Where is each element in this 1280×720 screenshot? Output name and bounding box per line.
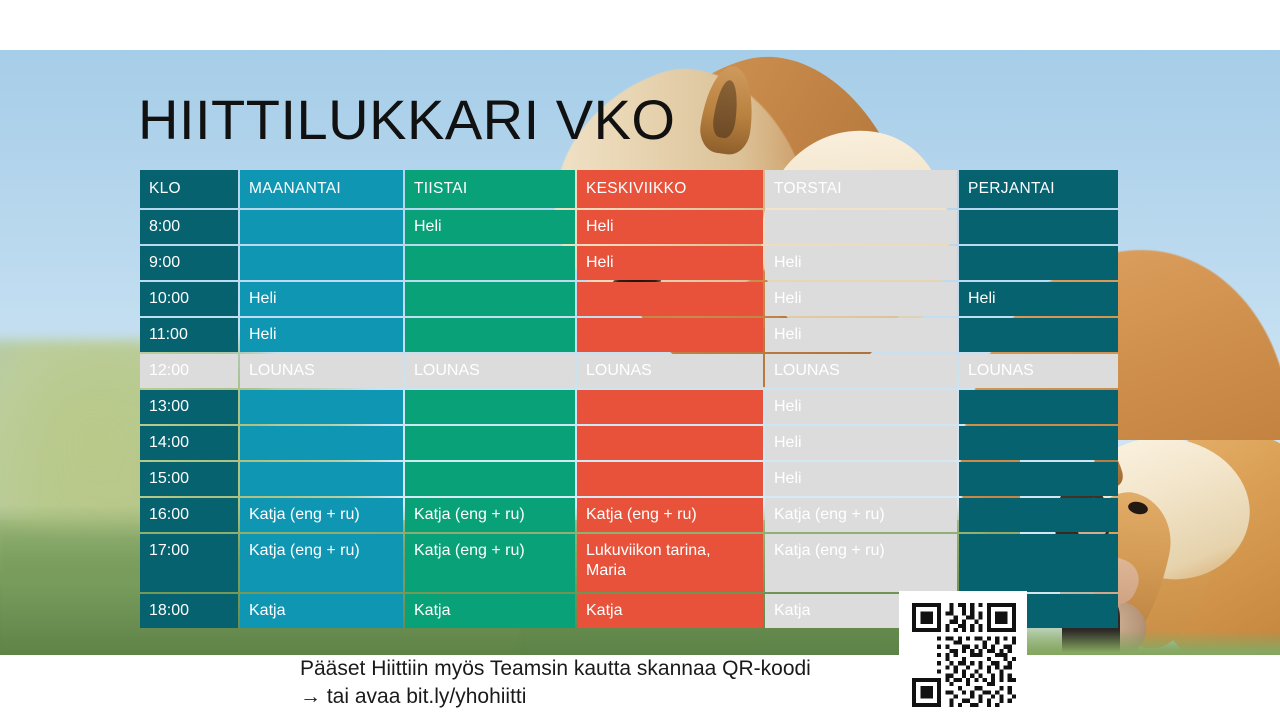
column-header-keskiviikko: KESKIVIIKKO: [577, 170, 763, 208]
schedule-table: KLO MAANANTAI TIISTAI KESKIVIIKKO TORSTA…: [138, 168, 1120, 630]
column-header-torstai: TORSTAI: [765, 170, 957, 208]
column-header-maanantai: MAANANTAI: [240, 170, 403, 208]
cell-perjantai: [959, 534, 1118, 592]
table-row: 9:00 Heli Heli: [140, 246, 1118, 280]
table-row: 13:00 Heli: [140, 390, 1118, 424]
cell-maanantai: Heli: [240, 318, 403, 352]
cell-torstai: Heli: [765, 462, 957, 496]
cell-maanantai: [240, 462, 403, 496]
cell-time: 16:00: [140, 498, 238, 532]
cell-torstai: Heli: [765, 426, 957, 460]
cell-torstai: [765, 210, 957, 244]
cell-torstai: Heli: [765, 246, 957, 280]
cell-time: 12:00: [140, 354, 238, 388]
cell-torstai: Katja (eng + ru): [765, 498, 957, 532]
cell-tiistai: Katja (eng + ru): [405, 534, 575, 592]
cell-time: 18:00: [140, 594, 238, 628]
column-header-klo: KLO: [140, 170, 238, 208]
cell-torstai: Heli: [765, 318, 957, 352]
table-row: 8:00 Heli Heli: [140, 210, 1118, 244]
slide-canvas: HIITTILUKKARI VKO KLO MAANANTAI TIISTAI …: [0, 0, 1280, 720]
cell-tiistai: [405, 318, 575, 352]
cell-perjantai: [959, 498, 1118, 532]
cell-maanantai: Katja: [240, 594, 403, 628]
cell-keskiviikko: Katja: [577, 594, 763, 628]
cell-time: 14:00: [140, 426, 238, 460]
cell-time: 10:00: [140, 282, 238, 316]
cell-time: 15:00: [140, 462, 238, 496]
cell-perjantai: [959, 390, 1118, 424]
cell-maanantai: Katja (eng + ru): [240, 534, 403, 592]
table-row: 15:00 Heli: [140, 462, 1118, 496]
caption: Pääset Hiittiin myös Teamsin kautta skan…: [300, 655, 940, 710]
cell-time: 17:00: [140, 534, 238, 592]
table-header-row: KLO MAANANTAI TIISTAI KESKIVIIKKO TORSTA…: [140, 170, 1118, 208]
cell-time: 13:00: [140, 390, 238, 424]
cell-maanantai: [240, 246, 403, 280]
table-row: 11:00 Heli Heli: [140, 318, 1118, 352]
cell-tiistai: [405, 426, 575, 460]
caption-line-1: Pääset Hiittiin myös Teamsin kautta skan…: [300, 657, 811, 680]
cell-tiistai: LOUNAS: [405, 354, 575, 388]
page-title: HIITTILUKKARI VKO: [138, 92, 676, 148]
cell-maanantai: Heli: [240, 282, 403, 316]
cell-perjantai: [959, 210, 1118, 244]
table-row: 10:00 Heli Heli Heli: [140, 282, 1118, 316]
cell-keskiviikko: [577, 426, 763, 460]
cell-tiistai: Katja: [405, 594, 575, 628]
cell-perjantai: [959, 246, 1118, 280]
column-header-tiistai: TIISTAI: [405, 170, 575, 208]
cell-torstai: LOUNAS: [765, 354, 957, 388]
table-row: 17:00 Katja (eng + ru) Katja (eng + ru) …: [140, 534, 1118, 592]
cell-keskiviikko: [577, 282, 763, 316]
cell-perjantai: [959, 426, 1118, 460]
cell-maanantai: Katja (eng + ru): [240, 498, 403, 532]
cell-keskiviikko: [577, 318, 763, 352]
table-row-lunch: 12:00 LOUNAS LOUNAS LOUNAS LOUNAS LOUNAS: [140, 354, 1118, 388]
cell-tiistai: [405, 282, 575, 316]
table-row: 14:00 Heli: [140, 426, 1118, 460]
caption-line-2: → tai avaa bit.ly/yhohiitti: [300, 683, 940, 711]
cell-torstai: Heli: [765, 282, 957, 316]
cell-torstai: Heli: [765, 390, 957, 424]
cell-maanantai: LOUNAS: [240, 354, 403, 388]
cell-keskiviikko: Heli: [577, 246, 763, 280]
cell-tiistai: [405, 462, 575, 496]
cell-perjantai: Heli: [959, 282, 1118, 316]
cell-perjantai: LOUNAS: [959, 354, 1118, 388]
cell-perjantai: [959, 318, 1118, 352]
cell-keskiviikko: [577, 390, 763, 424]
cell-time: 9:00: [140, 246, 238, 280]
cell-keskiviikko: Lukuviikon tarina, Maria: [577, 534, 763, 592]
table-row: 16:00 Katja (eng + ru) Katja (eng + ru) …: [140, 498, 1118, 532]
cell-tiistai: Heli: [405, 210, 575, 244]
cell-maanantai: [240, 426, 403, 460]
cell-tiistai: [405, 390, 575, 424]
cell-tiistai: [405, 246, 575, 280]
cell-torstai: Katja (eng + ru): [765, 534, 957, 592]
column-header-perjantai: PERJANTAI: [959, 170, 1118, 208]
cell-time: 11:00: [140, 318, 238, 352]
cell-time: 8:00: [140, 210, 238, 244]
cell-maanantai: [240, 210, 403, 244]
cell-keskiviikko: [577, 462, 763, 496]
cell-perjantai: [959, 462, 1118, 496]
cell-maanantai: [240, 390, 403, 424]
cell-keskiviikko: Heli: [577, 210, 763, 244]
cell-tiistai: Katja (eng + ru): [405, 498, 575, 532]
cell-keskiviikko: LOUNAS: [577, 354, 763, 388]
cell-keskiviikko: Katja (eng + ru): [577, 498, 763, 532]
